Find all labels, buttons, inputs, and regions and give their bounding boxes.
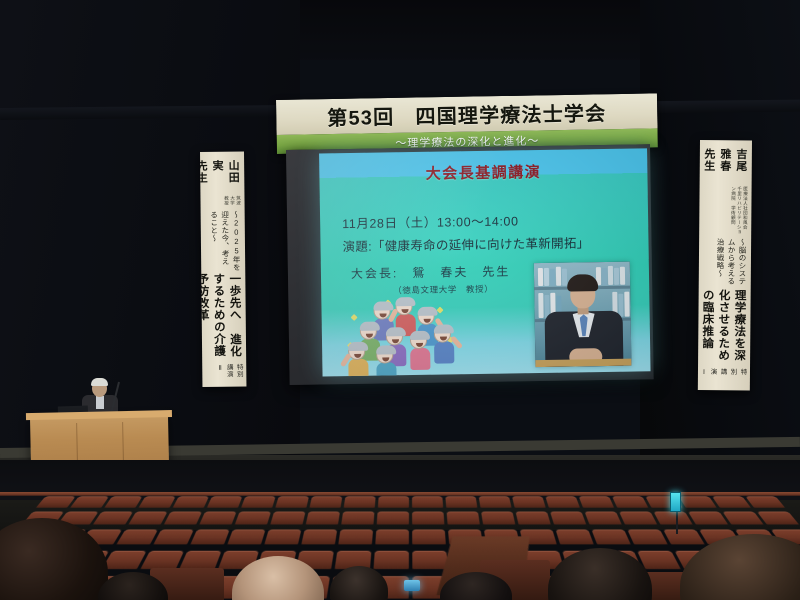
auditorium-scene: 第53回 四国理学療法士学会 〜理学療法の深化と進化〜 大会長基調講演 11月2… [0, 0, 800, 600]
person-body [348, 359, 368, 377]
seat-row [0, 512, 800, 525]
person-figure [410, 332, 431, 370]
person-head [417, 308, 434, 325]
cheering-elderly-group-illustration [345, 297, 462, 369]
sparkle-icon [351, 314, 358, 321]
person-figure [376, 346, 397, 376]
person-head [386, 328, 403, 345]
presenter-hair [91, 378, 108, 386]
banner-left-affiliation: 筑波大学 教授 [223, 196, 241, 210]
banner-right-title: 理学療法を深化させるための臨床推論 [699, 289, 748, 367]
banner-left-subtitle: 〜2025年を迎えた今、考えること〜 [209, 210, 243, 271]
person-head [410, 332, 427, 349]
slide-heading-band: 大会長基調講演 [319, 159, 647, 185]
presenter-shirt [96, 396, 104, 409]
slide-body-text: 11月28日（土）13:00〜14:00 演題:「健康寿命の延伸に向けた革新開拓… [342, 209, 623, 255]
banner-left-label: 特別講演Ⅱ [215, 363, 243, 378]
slide-speaker-block: 大会長: 鴛 春夫 先生 （徳島文理大学 教授） [351, 262, 511, 296]
banner-left-title: 一歩先へ 進化するための介護予防改革 [200, 272, 243, 363]
banner-right-affiliation: 医療法人社団和風会 千里リハビリテーション病院 学術顧問 [730, 186, 748, 237]
hall-left-wall [0, 0, 300, 470]
person-head [348, 343, 365, 360]
person-head [395, 298, 412, 315]
banner-right-speaker: 吉尾 雅春 先生 [701, 148, 749, 185]
slide-datetime: 11月28日（土）13:00〜14:00 [342, 209, 622, 232]
banner-left-speaker: 山田 実 先生 [200, 160, 241, 195]
person-head [360, 323, 377, 340]
person-body [410, 348, 430, 370]
person-head [376, 346, 393, 363]
slide-speaker-name: 大会長: 鴛 春夫 先生 [351, 262, 511, 282]
speaker-portrait-photo [534, 262, 632, 367]
hanging-banner-lecture-2: 特別講演Ⅱ 一歩先へ 進化するための介護予防改革 〜2025年を迎えた今、考える… [200, 152, 246, 387]
illuminated-aisle-sign [670, 492, 681, 512]
slide-heading: 大会長基調講演 [425, 164, 541, 183]
audience-phone-screen [404, 580, 420, 591]
conference-title: 第53回 四国理学療法士学会 [327, 97, 607, 131]
portrait-desk [535, 359, 631, 368]
person-head [434, 325, 451, 342]
seat-row [0, 551, 800, 569]
hanging-banner-lecture-1: 特別講演Ⅰ 理学療法を深化させるための臨床推論 〜脳のシステムから考える治療戦略… [698, 140, 752, 390]
slide-speaker-affiliation: （徳島文理大学 教授） [351, 282, 511, 297]
presentation-slide: 大会長基調講演 11月28日（土）13:00〜14:00 演題:「健康寿命の延伸… [319, 148, 650, 376]
person-figure [348, 343, 369, 377]
banner-right-subtitle: 〜脳のシステムから考える治療戦略〜 [715, 238, 748, 289]
seat-row [0, 530, 800, 545]
person-figure [434, 325, 455, 363]
projection-screen: 大会長基調講演 11月28日（土）13:00〜14:00 演題:「健康寿命の延伸… [286, 144, 654, 385]
person-body [376, 362, 396, 376]
portrait-hair [567, 274, 598, 291]
person-body [434, 341, 454, 363]
slide-lecture-title: 演題:「健康寿命の延伸に向けた革新開拓」 [342, 232, 622, 255]
banner-right-label: 特別講演Ⅰ [699, 368, 747, 382]
